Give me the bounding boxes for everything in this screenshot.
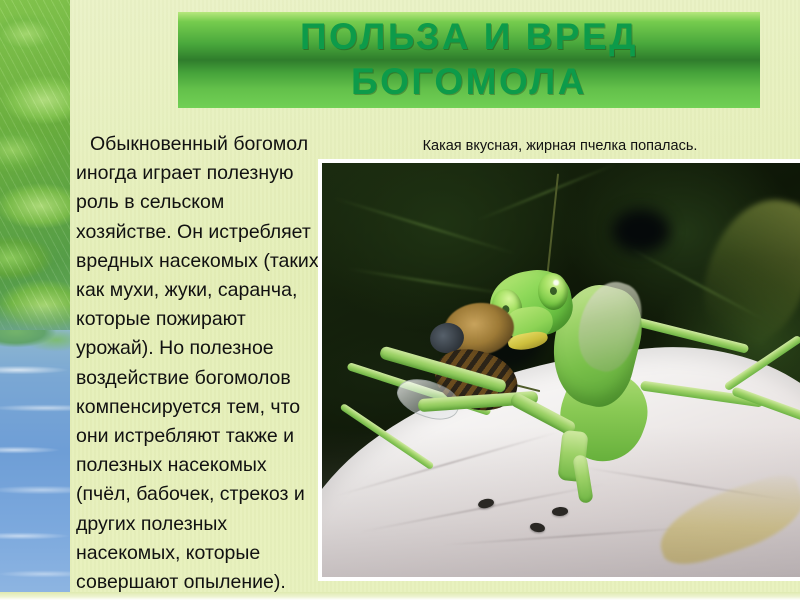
leaves-texture-image	[0, 0, 70, 352]
mantis-eye-pupil	[550, 287, 558, 296]
title-line-2: БОГОМОЛА	[351, 59, 587, 104]
presentation-slide: ПОЛЬЗА И ВРЕД БОГОМОЛА Обыкновенный бого…	[0, 0, 800, 600]
water-texture-image	[0, 330, 70, 600]
body-paragraph: Обыкновенный богомол иногда играет полез…	[76, 130, 320, 597]
title-banner: ПОЛЬЗА И ВРЕД БОГОМОЛА	[178, 12, 760, 108]
photo-caption: Какая вкусная, жирная пчелка попалась.	[330, 136, 790, 156]
background-shadow-blob	[612, 209, 670, 253]
photo-frame	[318, 159, 800, 581]
title-line-1: ПОЛЬЗА И ВРЕД	[300, 14, 638, 59]
side-decor-strip	[0, 0, 70, 600]
bottom-edge-strip	[0, 592, 800, 600]
mantis-eating-bee-photo	[322, 163, 800, 577]
water-leaf-overlay	[0, 330, 70, 364]
mantis-eye-glint	[553, 279, 560, 286]
